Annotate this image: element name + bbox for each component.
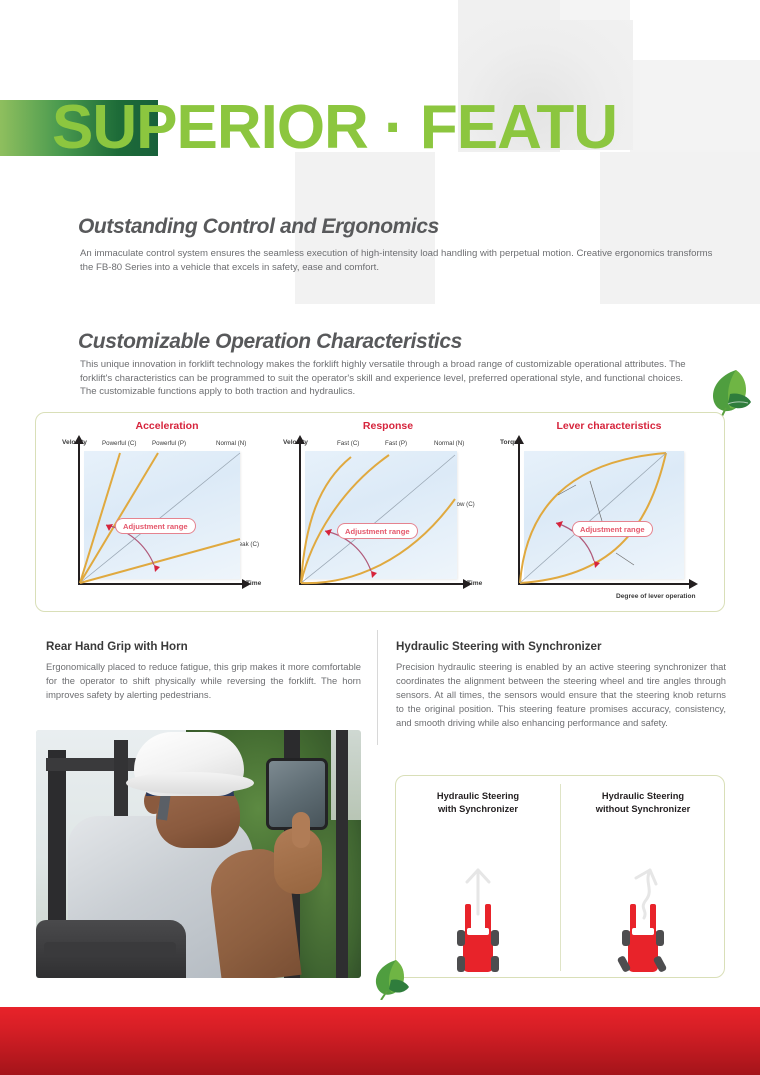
chart-acceleration: Acceleration Velocity Powerful (C) Power… xyxy=(58,413,276,613)
customizable-characteristics-chart-panel: Acceleration Velocity Powerful (C) Power… xyxy=(35,412,725,612)
photo-post xyxy=(336,730,348,978)
section-body-control-ergonomics: An immaculate control system ensures the… xyxy=(80,247,720,274)
diagram-label-line2: without Synchronizer xyxy=(596,804,691,814)
column-divider xyxy=(377,630,378,745)
photo-operator-thumb xyxy=(292,812,310,848)
chart-curves xyxy=(58,413,276,613)
watermark-block xyxy=(630,60,760,152)
diagram-label-line1: Hydraulic Steering xyxy=(437,791,519,801)
photo-hard-hat-brim xyxy=(126,772,254,794)
adjustment-range-badge: Adjustment range xyxy=(337,523,418,539)
adjustment-range-badge: Adjustment range xyxy=(572,521,653,537)
diagram-label-line2: with Synchronizer xyxy=(438,804,518,814)
feature-body-rear-hand-grip: Ergonomically placed to reduce fatigue, … xyxy=(46,660,361,702)
section-heading-customizable-operation: Customizable Operation Characteristics xyxy=(78,330,462,354)
diagram-label-line1: Hydraulic Steering xyxy=(602,791,684,801)
feature-heading-rear-hand-grip: Rear Hand Grip with Horn xyxy=(46,640,188,653)
chart-lever-characteristics: Lever characteristics Torque Normal (P) … xyxy=(498,413,720,613)
diagram-label: Hydraulic Steering without Synchronizer xyxy=(561,790,725,815)
feature-heading-hydraulic-steering: Hydraulic Steering with Synchronizer xyxy=(396,640,602,653)
footer-red-bar xyxy=(0,1007,760,1075)
hydraulic-steering-diagram-panel: Hydraulic Steering with Synchronizer Hyd… xyxy=(395,775,725,978)
page-title: SUPERIOR · FEATU xyxy=(52,92,617,163)
section-body-customizable-operation: This unique innovation in forklift techn… xyxy=(80,358,692,399)
chart-curves xyxy=(498,413,720,613)
diagram-label: Hydraulic Steering with Synchronizer xyxy=(396,790,560,815)
watermark-block xyxy=(600,152,760,304)
forklift-operator-photo xyxy=(36,730,361,978)
chart-response: Response Velocity Fast (C) Fast (P) Norm… xyxy=(279,413,497,613)
diagram-with-synchronizer: Hydraulic Steering with Synchronizer xyxy=(396,776,560,979)
forklift-top-view-wavy xyxy=(598,868,688,976)
brochure-page: SUPERIOR · FEATU Outstanding Control and… xyxy=(0,0,760,1075)
diagram-without-synchronizer: Hydraulic Steering without Synchronizer xyxy=(561,776,725,979)
photo-seat-detail xyxy=(44,942,176,956)
chart-curves xyxy=(279,413,497,613)
feature-body-hydraulic-steering: Precision hydraulic steering is enabled … xyxy=(396,660,726,730)
leaf-icon xyxy=(370,958,410,1000)
adjustment-range-badge: Adjustment range xyxy=(115,518,196,534)
section-heading-control-ergonomics: Outstanding Control and Ergonomics xyxy=(78,215,439,239)
forklift-top-view-straight xyxy=(433,868,523,976)
